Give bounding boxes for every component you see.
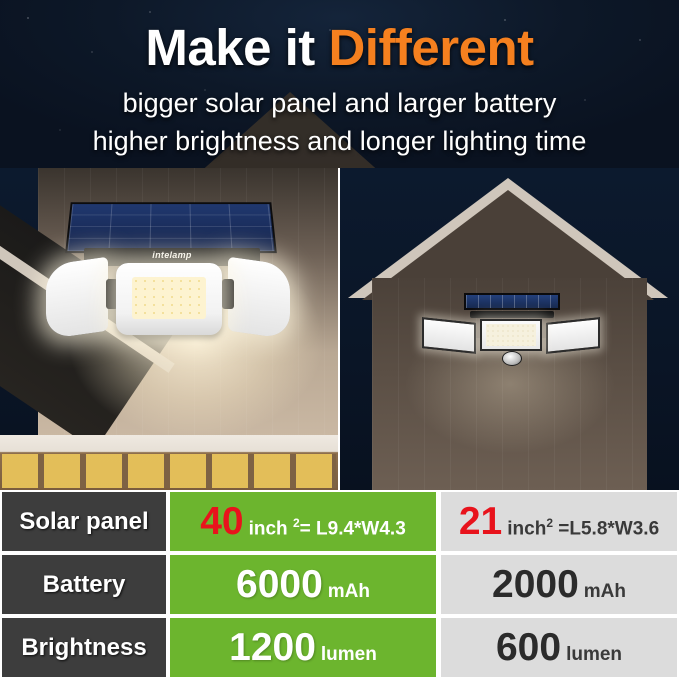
cell-ours-battery: 6000 mAh bbox=[170, 555, 436, 614]
value-competitor-solar-panel: 21 bbox=[459, 502, 502, 541]
header-banner: Make it Different bigger solar panel and… bbox=[0, 0, 679, 172]
product-photo-pair: intelamp bbox=[0, 168, 679, 490]
unit-suffix: = L9.4*W4.3 bbox=[300, 518, 406, 539]
unit-superscript: 2 bbox=[293, 516, 300, 530]
motion-sensor-icon bbox=[502, 351, 522, 366]
unit-prefix: inch bbox=[507, 518, 546, 539]
product-photo-ours: intelamp bbox=[0, 168, 338, 490]
unit-ours-solar-panel: inch 2= L9.4*W4.3 bbox=[249, 517, 406, 538]
table-row: Solar panel 40 inch 2= L9.4*W4.3 21 inch… bbox=[0, 490, 679, 553]
light-head-left bbox=[46, 257, 108, 340]
value-competitor-battery: 2000 bbox=[492, 565, 579, 604]
product-photo-competitor bbox=[340, 168, 679, 490]
subtitle-line-1: bigger solar panel and larger battery bbox=[0, 90, 679, 117]
unit-ours-battery: mAh bbox=[328, 582, 370, 601]
comparison-table: Solar panel 40 inch 2= L9.4*W4.3 21 inch… bbox=[0, 490, 679, 679]
unit-competitor-brightness: lumen bbox=[566, 645, 622, 664]
solar-light-large: intelamp bbox=[62, 201, 278, 361]
light-head-right bbox=[546, 317, 600, 354]
unit-prefix: inch bbox=[249, 518, 293, 539]
subtitle-line-2: higher brightness and longer lighting ti… bbox=[0, 128, 679, 155]
table-row: Battery 6000 mAh 2000 mAh bbox=[0, 553, 679, 616]
hinge-right-icon bbox=[222, 279, 234, 309]
light-head-center bbox=[116, 263, 222, 335]
cell-ours-solar-panel: 40 inch 2= L9.4*W4.3 bbox=[170, 492, 436, 551]
cell-competitor-brightness: 600 lumen bbox=[441, 618, 677, 677]
value-ours-battery: 6000 bbox=[236, 565, 323, 604]
title-orange-part: Different bbox=[328, 19, 533, 76]
value-competitor-brightness: 600 bbox=[496, 628, 561, 667]
cell-competitor-solar-panel: 21 inch2 =L5.8*W3.6 bbox=[441, 492, 677, 551]
unit-competitor-solar-panel: inch2 =L5.8*W3.6 bbox=[507, 517, 659, 538]
table-row: Brightness 1200 lumen 600 lumen bbox=[0, 616, 679, 679]
photo-divider bbox=[338, 168, 340, 490]
solar-panel-large bbox=[65, 202, 277, 253]
unit-suffix: =L5.8*W3.6 bbox=[553, 518, 659, 539]
unit-superscript: 2 bbox=[546, 516, 553, 530]
light-head-left bbox=[422, 317, 476, 354]
unit-ours-brightness: lumen bbox=[321, 645, 377, 664]
page-title: Make it Different bbox=[0, 22, 679, 73]
porch-roofline bbox=[0, 435, 338, 490]
led-array bbox=[486, 324, 536, 346]
led-array bbox=[132, 277, 206, 319]
row-label-battery: Battery bbox=[2, 555, 166, 614]
solar-light-small bbox=[418, 293, 603, 355]
solar-panel-small bbox=[464, 293, 560, 310]
row-label-brightness: Brightness bbox=[2, 618, 166, 677]
cell-ours-brightness: 1200 lumen bbox=[170, 618, 436, 677]
lit-windows bbox=[2, 454, 336, 488]
mounting-bracket bbox=[470, 311, 554, 318]
row-label-solar-panel: Solar panel bbox=[2, 492, 166, 551]
value-ours-brightness: 1200 bbox=[229, 628, 316, 667]
value-ours-solar-panel: 40 bbox=[200, 502, 243, 541]
light-head-center bbox=[480, 319, 542, 351]
cell-competitor-battery: 2000 mAh bbox=[441, 555, 677, 614]
title-white-part: Make it bbox=[145, 19, 328, 76]
product-comparison-infographic: Make it Different bigger solar panel and… bbox=[0, 0, 679, 679]
unit-competitor-battery: mAh bbox=[584, 582, 626, 601]
